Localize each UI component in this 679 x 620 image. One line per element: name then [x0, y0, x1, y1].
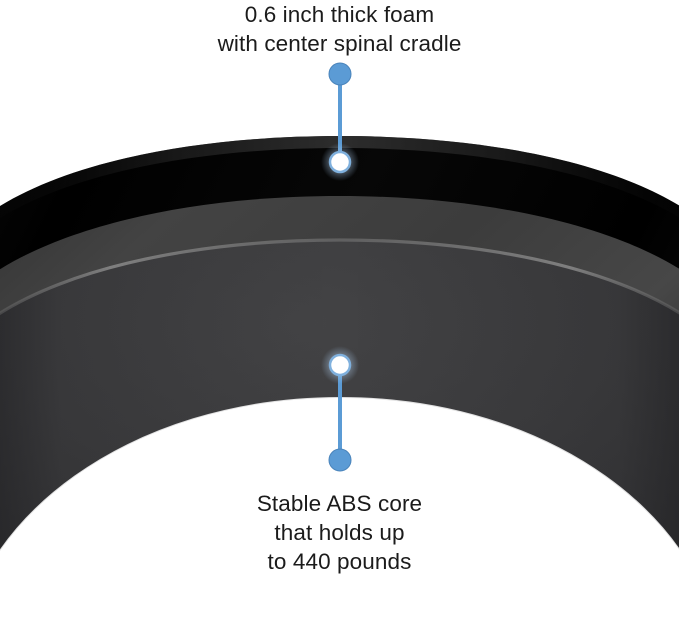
product-infographic: 0.6 inch thick foam with center spinal c… — [0, 0, 679, 620]
product-cross-section-illustration — [0, 0, 679, 620]
callout-foam[interactable] — [321, 63, 359, 181]
callout-foam-solid-dot[interactable] — [329, 63, 351, 85]
callout-core-solid-dot[interactable] — [329, 449, 351, 471]
callout-foam-hollow-dot[interactable] — [330, 152, 350, 172]
callout-core-hollow-dot[interactable] — [330, 355, 350, 375]
